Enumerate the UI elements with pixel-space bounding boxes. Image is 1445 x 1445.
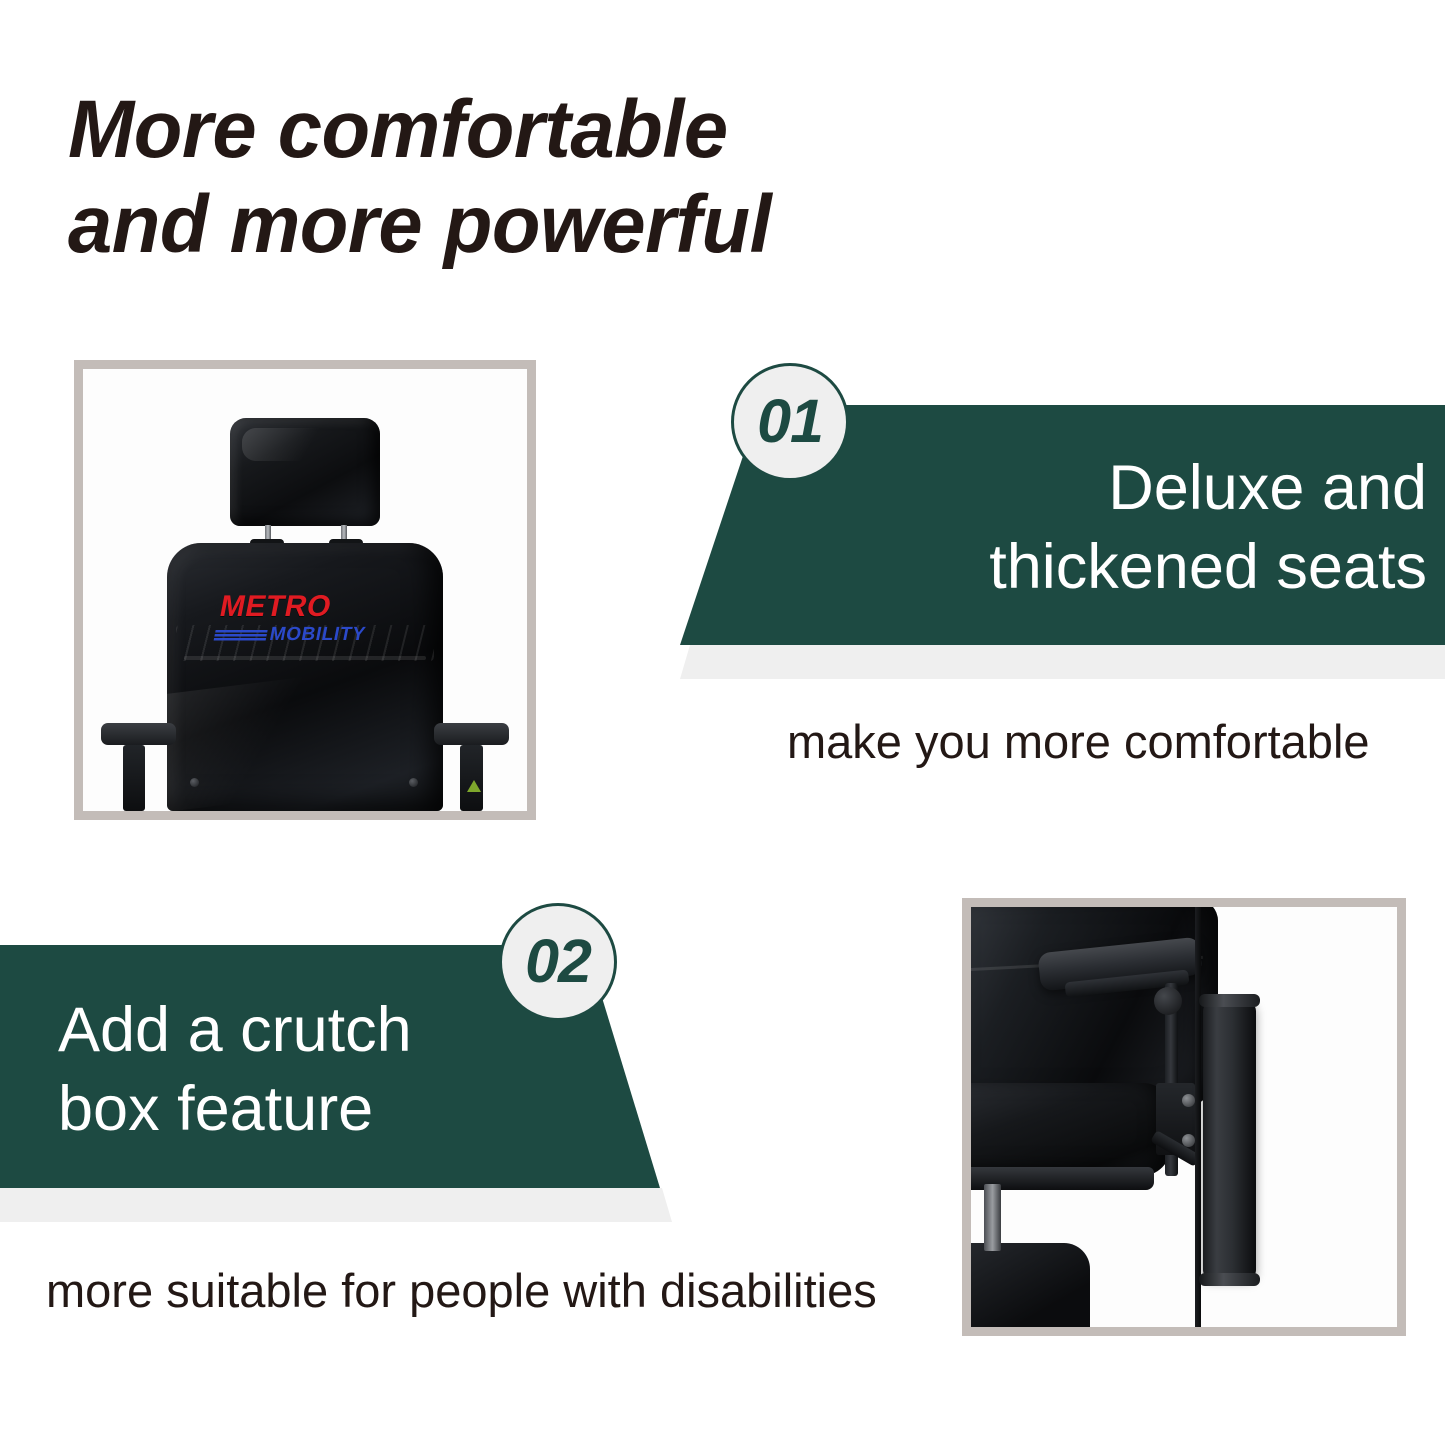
photo-crutch-holder-content [971, 907, 1397, 1327]
product-photo-crutch-holder [962, 898, 1406, 1336]
headrest-post-left [265, 525, 271, 540]
armrest-post-right [460, 745, 482, 811]
bracket-bolt-lower [1182, 1134, 1195, 1147]
badge-number-02: 02 [525, 931, 591, 992]
product-photo-seatback: METRO MOBILITY [74, 360, 536, 820]
headrest-cushion [230, 418, 381, 526]
feature-caption-01: make you more comfortable [787, 714, 1370, 770]
logo-speed-stripes-icon [214, 628, 269, 642]
armrest-pivot-joint [1154, 987, 1182, 1015]
logo-brand-primary: METRO [218, 592, 401, 622]
seat-backrest-side [971, 907, 1218, 1109]
banner-shadow-01 [680, 645, 1445, 679]
feature-caption-02: more suitable for people with disabiliti… [46, 1263, 877, 1319]
frame-screw-left [190, 778, 199, 787]
armrest-pad-left [101, 723, 176, 745]
caution-triangle-icon [467, 780, 481, 792]
seat-pedestal [984, 1184, 1001, 1251]
badge-number-01: 01 [757, 391, 823, 452]
page-headline: More comfortable and more powerful [68, 82, 1038, 272]
crutch-holder-tube [1203, 1002, 1256, 1279]
feature-number-badge-01: 01 [731, 363, 849, 481]
metro-mobility-logo: METRO MOBILITY [213, 592, 401, 644]
armrest-post-left [123, 745, 145, 811]
logo-brand-secondary: MOBILITY [268, 625, 367, 644]
bracket-bolt-upper [1182, 1094, 1195, 1107]
feature-title-02: Add a crutch box feature [58, 991, 412, 1149]
lower-cushion [971, 1243, 1090, 1327]
armrest-pad-right [434, 723, 509, 745]
banner-shadow-02 [0, 1188, 672, 1222]
feature-number-badge-02: 02 [499, 903, 617, 1021]
feature-title-01: Deluxe and thickened seats [989, 449, 1427, 607]
seat-backrest [167, 543, 442, 811]
seat-cushion [971, 1083, 1171, 1175]
side-rail-post [1195, 907, 1201, 1327]
headrest-post-right [341, 525, 347, 540]
photo-seatback-content: METRO MOBILITY [83, 369, 527, 811]
